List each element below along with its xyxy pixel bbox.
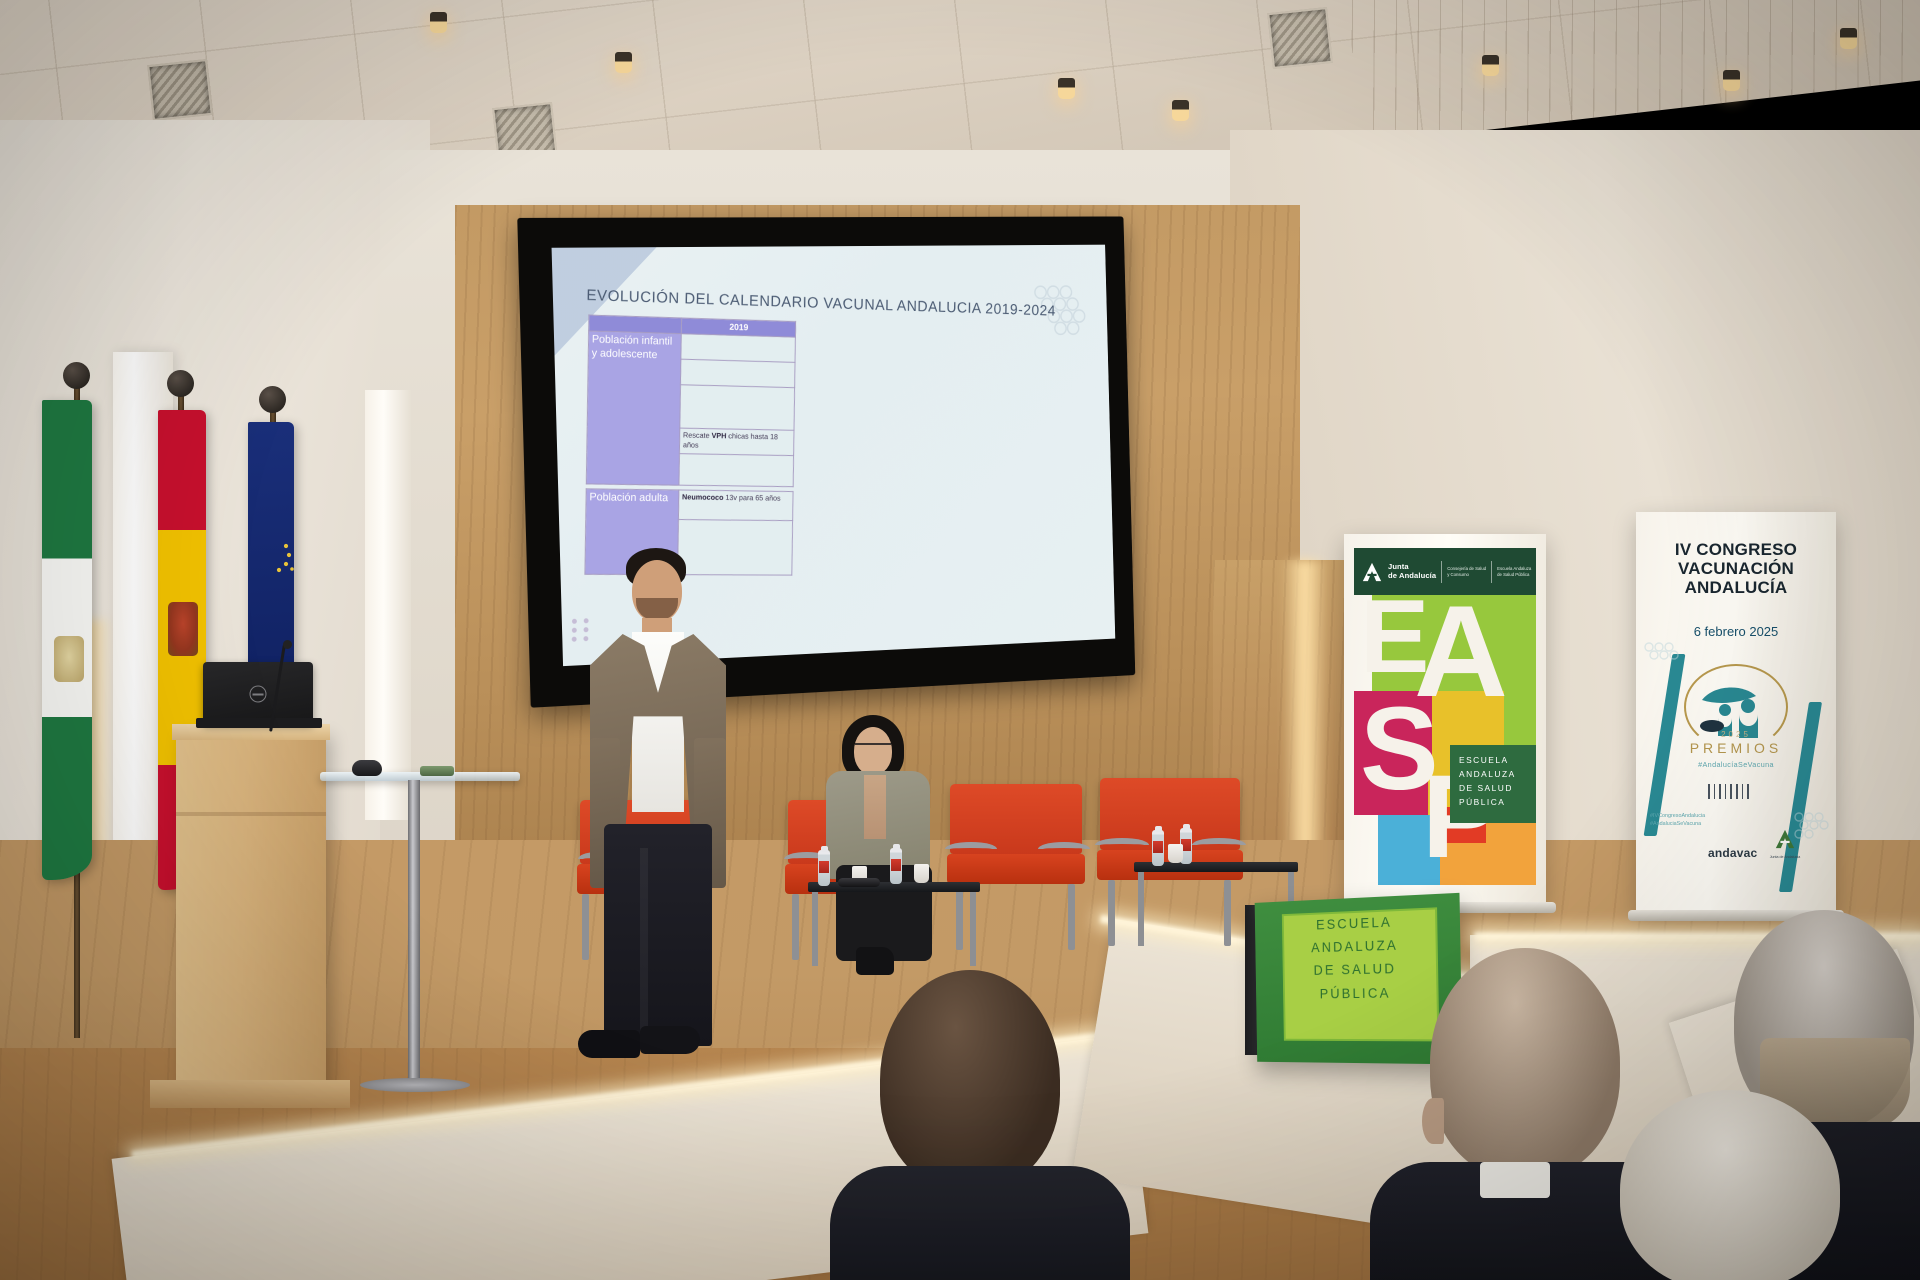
congress-date: 6 febrero 2025 [1636,624,1836,639]
bottle-cap [1155,826,1162,832]
table-leg [812,892,818,966]
cell-text-post: 13v para 65 años [723,493,780,502]
computer-mouse[interactable] [352,760,382,776]
easp-tagline: ESCUELA ANDALUZA DE SALUD PÚBLICA [1450,745,1536,823]
table-cell [680,385,795,431]
lectern-base [150,1080,350,1108]
panelist-head [854,727,892,775]
presenter-shoe-right [640,1026,700,1054]
handheld-microphone[interactable] [838,878,880,887]
chair-armrest [1095,838,1149,845]
hashtag-line1: #IVCongresoAndalucia [1650,812,1705,820]
glass-table-base [360,1078,470,1092]
cell-text-bold: Neumococo [682,493,723,502]
hvac-vent [1267,7,1333,69]
flagpole-finial [167,370,194,397]
bottle-cap [893,844,900,850]
flagpole-finial [63,362,90,389]
congress-title: IV CONGRESO VACUNACIÓN ANDALUCÍA [1636,540,1836,597]
tick-decoration [1708,784,1749,799]
audience-head [1430,948,1620,1178]
glass-table-leg [408,780,420,1085]
easp-rollup-banner: Junta de Andalucía Consejería de Salud y… [1344,534,1546,904]
table-leg [1138,872,1144,946]
table-cell [681,334,796,363]
ceiling-slat-section [1311,0,1920,144]
table-leg [970,892,976,966]
flag-coat-of-arms [54,636,84,682]
audience-shirt-collar [1480,1162,1550,1198]
side-table [808,882,980,966]
chair-armrest [1038,842,1090,849]
presenter-trousers [604,824,712,1046]
water-bottle[interactable] [1152,830,1164,866]
dot-pattern-icon [1642,640,1682,680]
ceiling-spotlight [1482,55,1499,76]
ceiling-spotlight [1172,100,1189,121]
trouser-crease [640,848,648,1048]
ceiling-spotlight [430,12,447,33]
table-row: Población adulta Neumococo 13v para 65 a… [586,489,793,521]
cell-text-pre: Rescate [683,431,712,440]
marker-pen[interactable] [420,766,454,776]
panelist-neckline [864,775,886,839]
dept-line1: Consejería de Salud [1447,566,1486,572]
row-label-child-population: Población infantil y adolescente [586,331,681,485]
chair-leg [1108,880,1115,946]
congress-title-line2: VACUNACIÓN [1636,559,1836,578]
audience-head [880,970,1060,1190]
easp-tag-line2: ANDALUZA [1459,768,1536,782]
ceiling-spotlight [1840,28,1857,49]
laptop-brand-icon [250,686,267,703]
congress-title-line3: ANDALUCÍA [1636,578,1836,597]
ceiling-spotlight [1058,78,1075,99]
slide-dot-decoration [572,615,577,646]
junta-andalucia-logo-icon [1774,828,1796,850]
table-cell [679,454,794,487]
junta-logo-footer: Junta de Andalucía [1764,828,1806,859]
unit-line2: de Salud Pública [1497,572,1531,578]
eu-stars-icon [252,534,298,580]
laptop[interactable] [203,662,313,724]
chair-armrest [1192,838,1246,845]
presenter [582,548,732,1058]
awards-label: PREMIOS [1636,740,1836,756]
table-cell-pneumococcus: Neumococo 13v para 65 años [678,490,793,521]
glasses-icon [855,743,891,751]
flag-andalucia [42,400,92,880]
table-cell [680,359,795,387]
flagpole-finial [259,386,286,413]
water-bottle[interactable] [890,848,902,884]
flag-coat-of-arms [168,602,198,656]
congress-title-line1: IV CONGRESO [1636,540,1836,559]
easp-tag-line4: PÚBLICA [1459,796,1536,810]
audience-shoulders [830,1166,1130,1280]
cell-text-bold: VPH [712,431,727,440]
vaccination-calendar-table: 2019 Población infantil y adolescente Re… [584,314,796,575]
chair[interactable] [950,784,1082,884]
andavac-logo: andavac [1708,846,1757,860]
ceiling-spotlight [615,52,632,73]
bottle-cap [821,846,828,852]
bottle-cap [1183,824,1190,830]
chair-armrest [945,842,997,849]
hashtag-line2: #AndaluciaSeVacuna [1650,820,1705,828]
table-row: Población infantil y adolescente [588,331,795,362]
lectern [176,730,326,1090]
table-cell-vph-rescue: Rescate VPH chicas hasta 18 años [679,428,794,456]
audience-member [1600,1090,1860,1280]
consejeria-label: Consejería de Salud y Consumo [1447,566,1486,577]
wall-pillar [365,390,411,820]
water-bottle[interactable] [818,850,830,886]
awards-hashtag: #AndalucíaSeVacuna [1636,760,1836,769]
microphone-icon [283,640,292,649]
audience-ear [1422,1098,1444,1144]
dept-line2: y Consumo [1447,572,1486,578]
congress-rollup-banner: IV CONGRESO VACUNACIÓN ANDALUCÍA 6 febre… [1636,512,1836,912]
easp-tag-line1: ESCUELA [1459,754,1536,768]
ceiling-spotlight [1723,70,1740,91]
chair-leg [792,894,799,960]
chair-seat [947,854,1085,884]
congress-hashtags: #IVCongresoAndalucia #AndaluciaSeVacuna [1650,812,1705,828]
easp-tag-line3: DE SALUD [1459,782,1536,796]
coffee-cup[interactable] [914,864,929,883]
easp-logo-grid: E A S P ESCUELA ANDALUZA DE SALUD PÚBLIC… [1354,595,1536,885]
unit-label: Escuela Andaluza de Salud Pública [1497,566,1531,577]
lectern-trim [176,812,326,816]
junta-footer-label: Junta de Andalucía [1764,855,1806,859]
coffee-cup[interactable] [1168,844,1183,863]
audience-member [840,970,1100,1280]
chair-leg [1068,884,1075,950]
unit-line1: Escuela Andaluza [1497,566,1531,572]
auditorium-scene: EVOLUCIÓN DEL CALENDARIO VACUNAL ANDALUC… [0,0,1920,1280]
awards-year: 2025 [1636,730,1836,739]
laptop-base [196,718,322,728]
audience-head [1620,1090,1840,1280]
hvac-vent [147,59,213,121]
presenter-shoe-left [578,1030,640,1058]
